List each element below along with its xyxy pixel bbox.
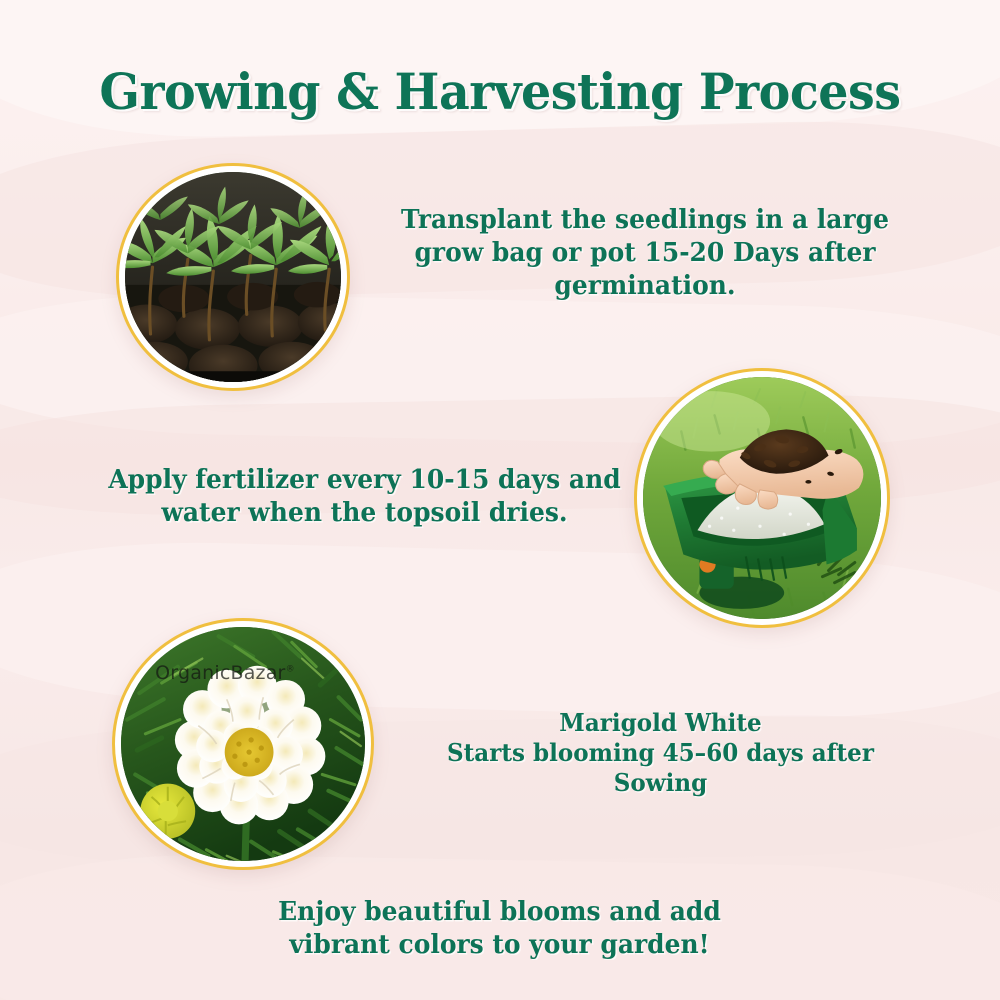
caption-line: vibrant colors to your garden! bbox=[243, 929, 757, 962]
step-image-seedlings bbox=[116, 163, 350, 391]
page-title: Growing & Harvesting Process bbox=[25, 62, 975, 121]
caption-line: water when the topsoil dries. bbox=[103, 497, 626, 530]
seedlings-photo-inner bbox=[125, 172, 341, 382]
fertilizer-spreader-illustration bbox=[643, 377, 881, 619]
caption-line: Apply fertilizer every 10-15 days and bbox=[103, 464, 626, 497]
caption-line: Sowing bbox=[409, 768, 913, 798]
caption-fertilizer: Apply fertilizer every 10-15 days and wa… bbox=[103, 464, 626, 530]
caption-line: Marigold White bbox=[409, 708, 913, 738]
caption-line: germination. bbox=[400, 270, 890, 303]
caption-footer: Enjoy beautiful blooms and add vibrant c… bbox=[243, 896, 757, 962]
caption-bloom: Marigold White Starts blooming 45–60 day… bbox=[409, 708, 913, 799]
infographic-poster: Growing & Harvesting Process bbox=[0, 0, 1000, 1000]
caption-line: Starts blooming 45–60 days after bbox=[409, 738, 913, 768]
caption-line: grow bag or pot 15-20 Days after bbox=[400, 237, 890, 270]
step-image-marigold-white: OrganicBazar® bbox=[112, 618, 374, 870]
marigold-photo-inner: OrganicBazar® bbox=[121, 627, 365, 861]
caption-line: Enjoy beautiful blooms and add bbox=[243, 896, 757, 929]
fertilizer-photo-inner bbox=[643, 377, 881, 619]
seedlings-illustration bbox=[125, 172, 341, 382]
white-marigold-illustration bbox=[121, 627, 365, 861]
caption-line: Transplant the seedlings in a large bbox=[400, 204, 890, 237]
caption-transplant: Transplant the seedlings in a large grow… bbox=[400, 204, 890, 302]
step-image-fertilizer bbox=[634, 368, 890, 628]
